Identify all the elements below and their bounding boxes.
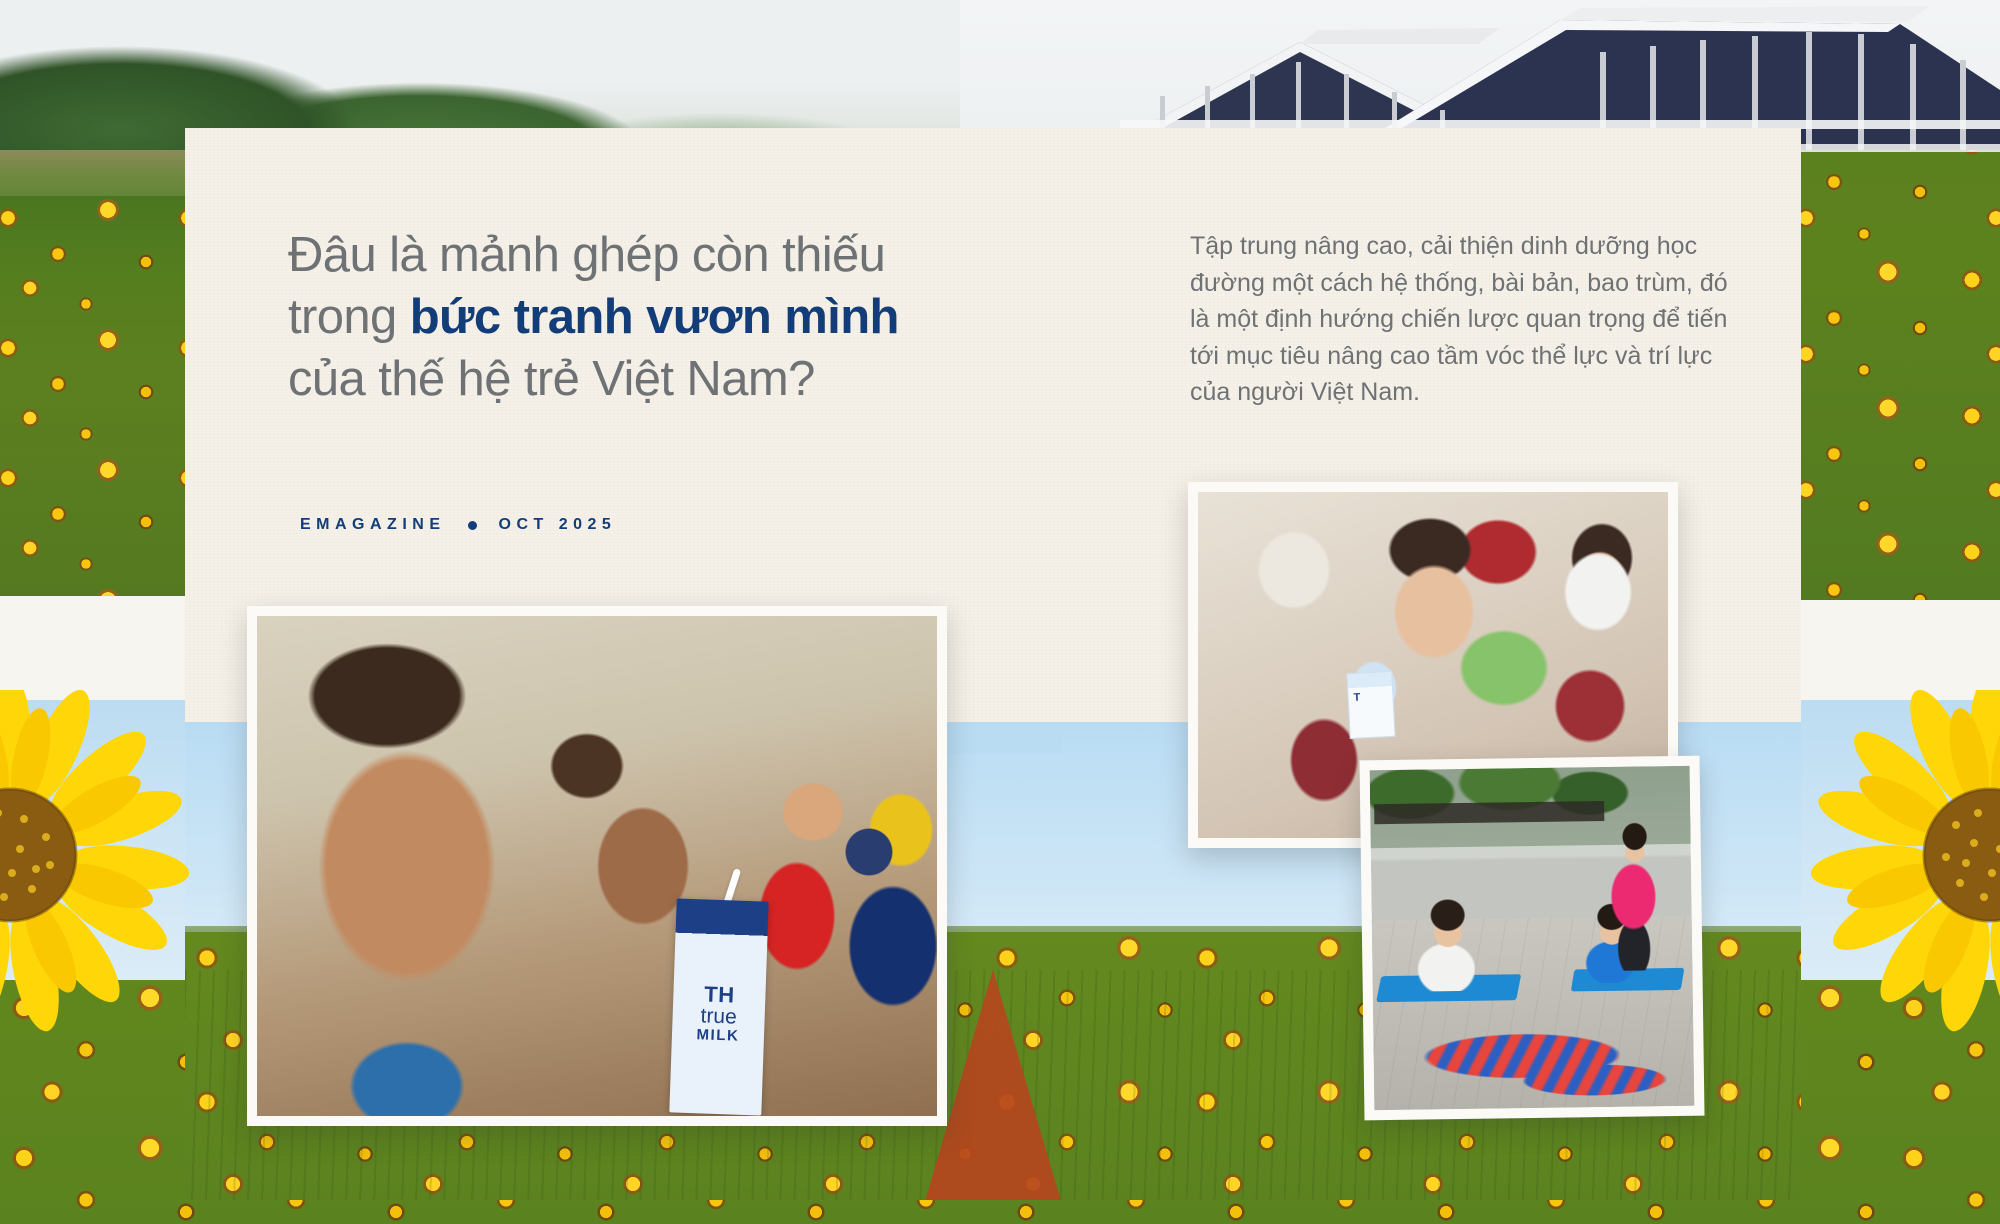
milk-carton-icon: TH true MILK <box>669 898 768 1115</box>
milk-carton-label: TH true MILK <box>672 982 766 1044</box>
bullet-dot-icon <box>468 521 477 530</box>
headline-line-3: của thế hệ trẻ Việt Nam? <box>288 352 815 406</box>
page-title: Đâu là mảnh ghép còn thiếu trong bức tra… <box>288 224 1048 411</box>
headline-line-1: Đâu là mảnh ghép còn thiếu <box>288 228 885 282</box>
brand-line-1: TH <box>673 982 766 1008</box>
photo-children-milk-image: TH true MILK <box>257 616 937 1116</box>
teacher-figure <box>1598 820 1670 971</box>
milk-box-icon: T <box>1346 671 1395 739</box>
kicker: EMAGAZINE OCT 2025 <box>300 516 616 534</box>
kicker-date: OCT 2025 <box>499 516 617 534</box>
headline-line-2-prefix: trong <box>288 290 410 344</box>
emagazine-cover: Đâu là mảnh ghép còn thiếu trong bức tra… <box>0 0 2000 1224</box>
photo-kids-exercise-scene <box>1370 766 1695 1110</box>
arch-shape <box>930 722 1062 754</box>
headline-accent: bức tranh vươn mình <box>410 290 899 344</box>
child-crawling-left <box>1405 899 1492 992</box>
photo-kids-exercise <box>1360 756 1705 1121</box>
standfirst: Tập trung nâng cao, cải thiện dinh dưỡng… <box>1190 228 1735 411</box>
photo-kids-exercise-image <box>1370 766 1695 1110</box>
milk-box-label: T <box>1353 692 1360 704</box>
kicker-label: EMAGAZINE <box>300 516 446 534</box>
brand-line-3: MILK <box>672 1026 764 1044</box>
photo-children-milk: TH true MILK <box>247 606 947 1126</box>
hula-hoops-icon <box>1383 1004 1685 1104</box>
photo-children-milk-art <box>257 616 937 1116</box>
photo-kids-exercise-art <box>1370 766 1695 1110</box>
school-banner <box>1374 801 1604 824</box>
